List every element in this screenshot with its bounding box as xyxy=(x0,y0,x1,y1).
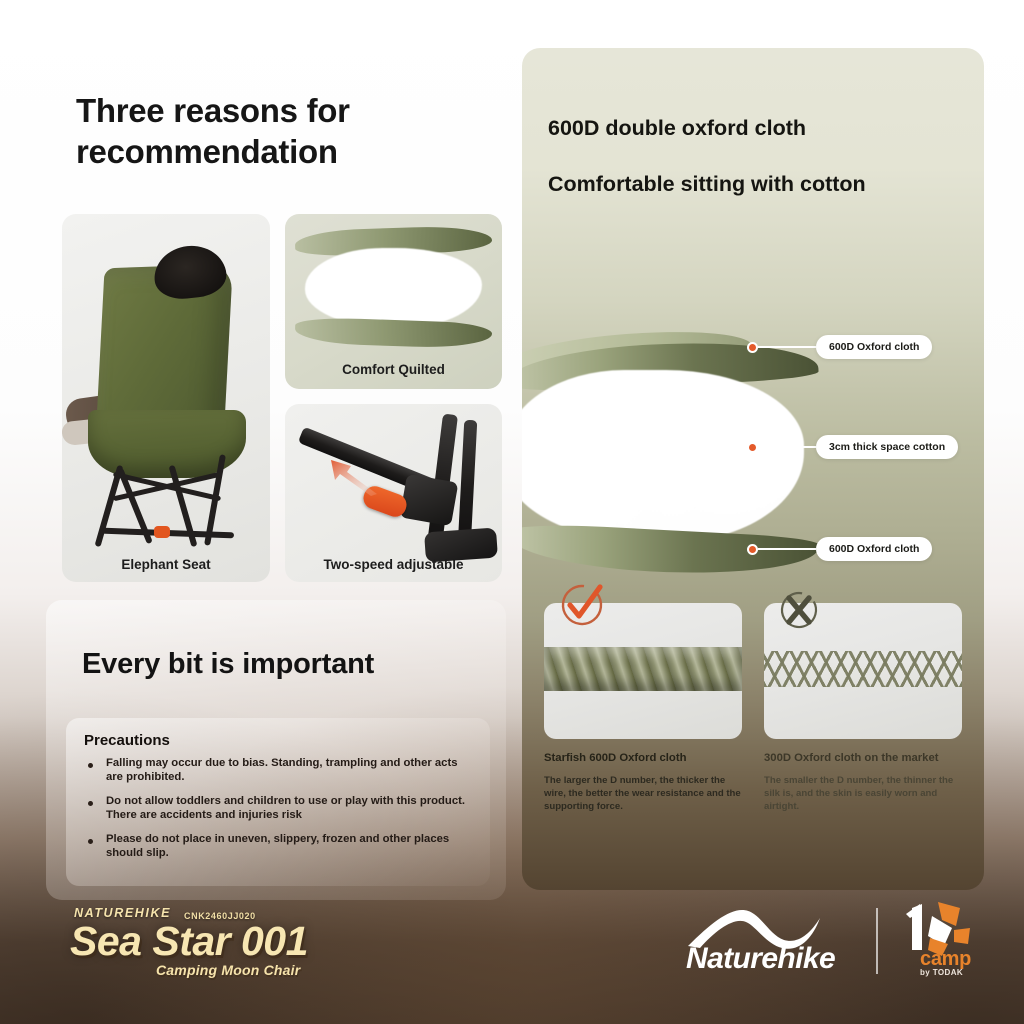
feature-card-label: Comfort Quilted xyxy=(285,362,502,377)
quilt-cross-section-icon xyxy=(295,226,492,348)
oxford-cloth-panel: 600D double oxford cloth Comfortable sit… xyxy=(522,48,984,890)
callout-marker-icon xyxy=(747,442,758,453)
feature-card-elephant-seat[interactable]: Elephant Seat xyxy=(62,214,270,582)
up-arrow-icon xyxy=(325,456,379,496)
comparison-column-starfish[interactable]: Starfish 600D Oxford cloth The larger th… xyxy=(544,603,742,814)
feature-card-two-speed-adjustable[interactable]: Two-speed adjustable xyxy=(285,404,502,582)
fabric-comparison: Starfish 600D Oxford cloth The larger th… xyxy=(544,603,964,868)
list-item: Falling may occur due to bias. Standing,… xyxy=(84,756,474,785)
comparison-description: The smaller the D number, the thinner th… xyxy=(764,775,962,814)
bullet-icon xyxy=(88,801,93,806)
callout-leader-line xyxy=(758,446,816,448)
callout-leader-line xyxy=(758,346,816,348)
product-subtitle: Camping Moon Chair xyxy=(156,962,300,978)
precautions-list: Falling may occur due to bias. Standing,… xyxy=(84,756,474,861)
precaution-text: Do not allow toddlers and children to us… xyxy=(106,795,465,821)
callout-marker-icon xyxy=(747,544,758,555)
comparison-description: The larger the D number, the thicker the… xyxy=(544,775,742,814)
product-name: Sea Star 001 xyxy=(70,918,308,965)
callout-oxford-top: 600D Oxford cloth xyxy=(747,335,932,359)
bullet-icon xyxy=(88,763,93,768)
panel-title-line2: Comfortable sitting with cotton xyxy=(548,172,866,197)
thick-rope-icon xyxy=(544,647,742,691)
callout-label: 3cm thick space cotton xyxy=(816,435,958,459)
page-title: Three reasons for recommendation xyxy=(76,90,496,173)
comparison-column-market[interactable]: 300D Oxford cloth on the market The smal… xyxy=(764,603,962,814)
thin-rope-icon xyxy=(764,651,962,687)
check-circle-icon xyxy=(556,579,608,631)
precaution-text: Please do not place in uneven, slippery,… xyxy=(106,833,449,859)
precaution-text: Falling may occur due to bias. Standing,… xyxy=(106,757,458,783)
comparison-title: Starfish 600D Oxford cloth xyxy=(544,752,742,764)
hinge-photo-icon xyxy=(285,404,502,582)
list-item: Please do not place in uneven, slippery,… xyxy=(84,832,474,861)
feature-cards: Elephant Seat Comfort Quilted xyxy=(62,214,502,582)
feature-card-label: Elephant Seat xyxy=(62,557,270,572)
list-item: Do not allow toddlers and children to us… xyxy=(84,794,474,823)
callout-label: 600D Oxford cloth xyxy=(816,335,932,359)
precautions-title: Precautions xyxy=(84,732,474,749)
product-name-badge: NATUREHIKE CNK2460JJ020 Sea Star 001 Cam… xyxy=(62,902,362,988)
naturehike-logo: Naturehike xyxy=(680,900,870,986)
chair-photo-icon xyxy=(62,214,270,582)
callout-oxford-bottom: 600D Oxford cloth xyxy=(747,537,932,561)
panel-title-line1: 600D double oxford cloth xyxy=(548,116,806,141)
callout-leader-line xyxy=(758,548,816,550)
cross-circle-icon xyxy=(776,587,822,633)
feature-card-label: Two-speed adjustable xyxy=(285,557,502,572)
footer-divider xyxy=(876,908,878,974)
naturehike-wordmark: Naturehike xyxy=(686,942,835,976)
callout-marker-icon xyxy=(747,342,758,353)
camp-sub-label: by TODAK xyxy=(920,968,963,977)
footer-branding: Naturehike camp by TODAK xyxy=(680,898,980,990)
callout-space-cotton: 3cm thick space cotton xyxy=(747,435,958,459)
bullet-icon xyxy=(88,839,93,844)
precautions-card: Precautions Falling may occur due to bia… xyxy=(66,718,490,886)
comparison-title: 300D Oxford cloth on the market xyxy=(764,752,962,764)
section-title-important: Every bit is important xyxy=(82,648,374,681)
camp-todak-logo: camp by TODAK xyxy=(898,898,990,990)
callout-label: 600D Oxford cloth xyxy=(816,537,932,561)
feature-card-comfort-quilted[interactable]: Comfort Quilted xyxy=(285,214,502,389)
